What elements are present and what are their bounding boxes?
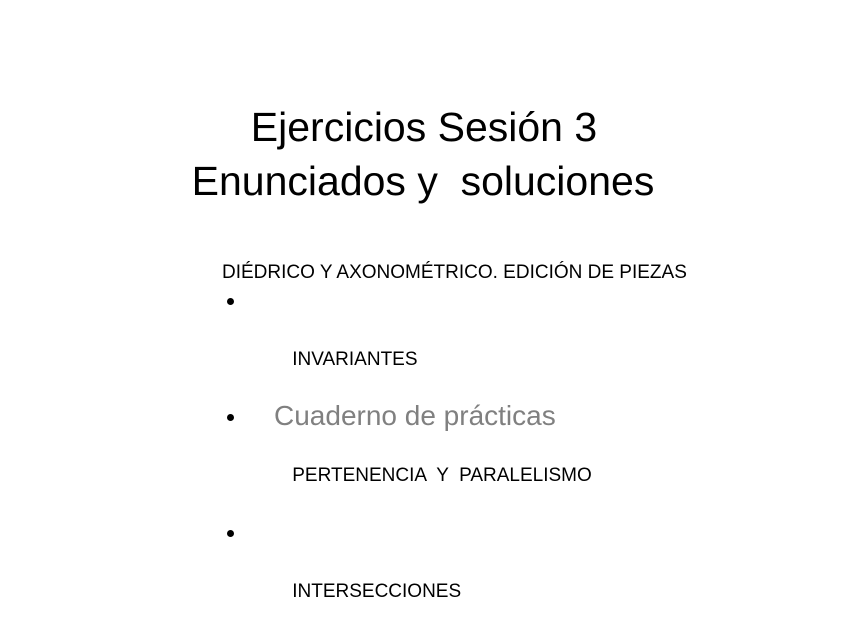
bullet-dot-icon xyxy=(227,298,234,305)
subtitle-text: Cuaderno de prácticas xyxy=(274,398,556,434)
list-item-label: INVARIANTES xyxy=(292,349,417,370)
title-line-1: Ejercicios Sesión 3 xyxy=(0,100,848,154)
list-item: INTERSECCIONES xyxy=(222,519,822,635)
body-block: DIÉDRICO Y AXONOMÉTRICO. EDICIÓN DE PIEZ… xyxy=(222,258,822,635)
list-item: INVARIANTES xyxy=(222,287,822,403)
list-item-label: PERTENENCIA Y PARALELISMO xyxy=(292,465,592,486)
bullet-list: INVARIANTES PERTENENCIA Y PARALELISMO IN… xyxy=(222,287,822,635)
bullet-dot-icon xyxy=(227,414,234,421)
bullet-dot-icon xyxy=(227,530,234,537)
title-block: Ejercicios Sesión 3 Enunciados y solucio… xyxy=(0,100,848,208)
title-line-2: Enunciados y soluciones xyxy=(0,154,848,208)
slide-canvas: Ejercicios Sesión 3 Enunciados y solucio… xyxy=(0,0,848,599)
body-heading: DIÉDRICO Y AXONOMÉTRICO. EDICIÓN DE PIEZ… xyxy=(222,258,822,287)
